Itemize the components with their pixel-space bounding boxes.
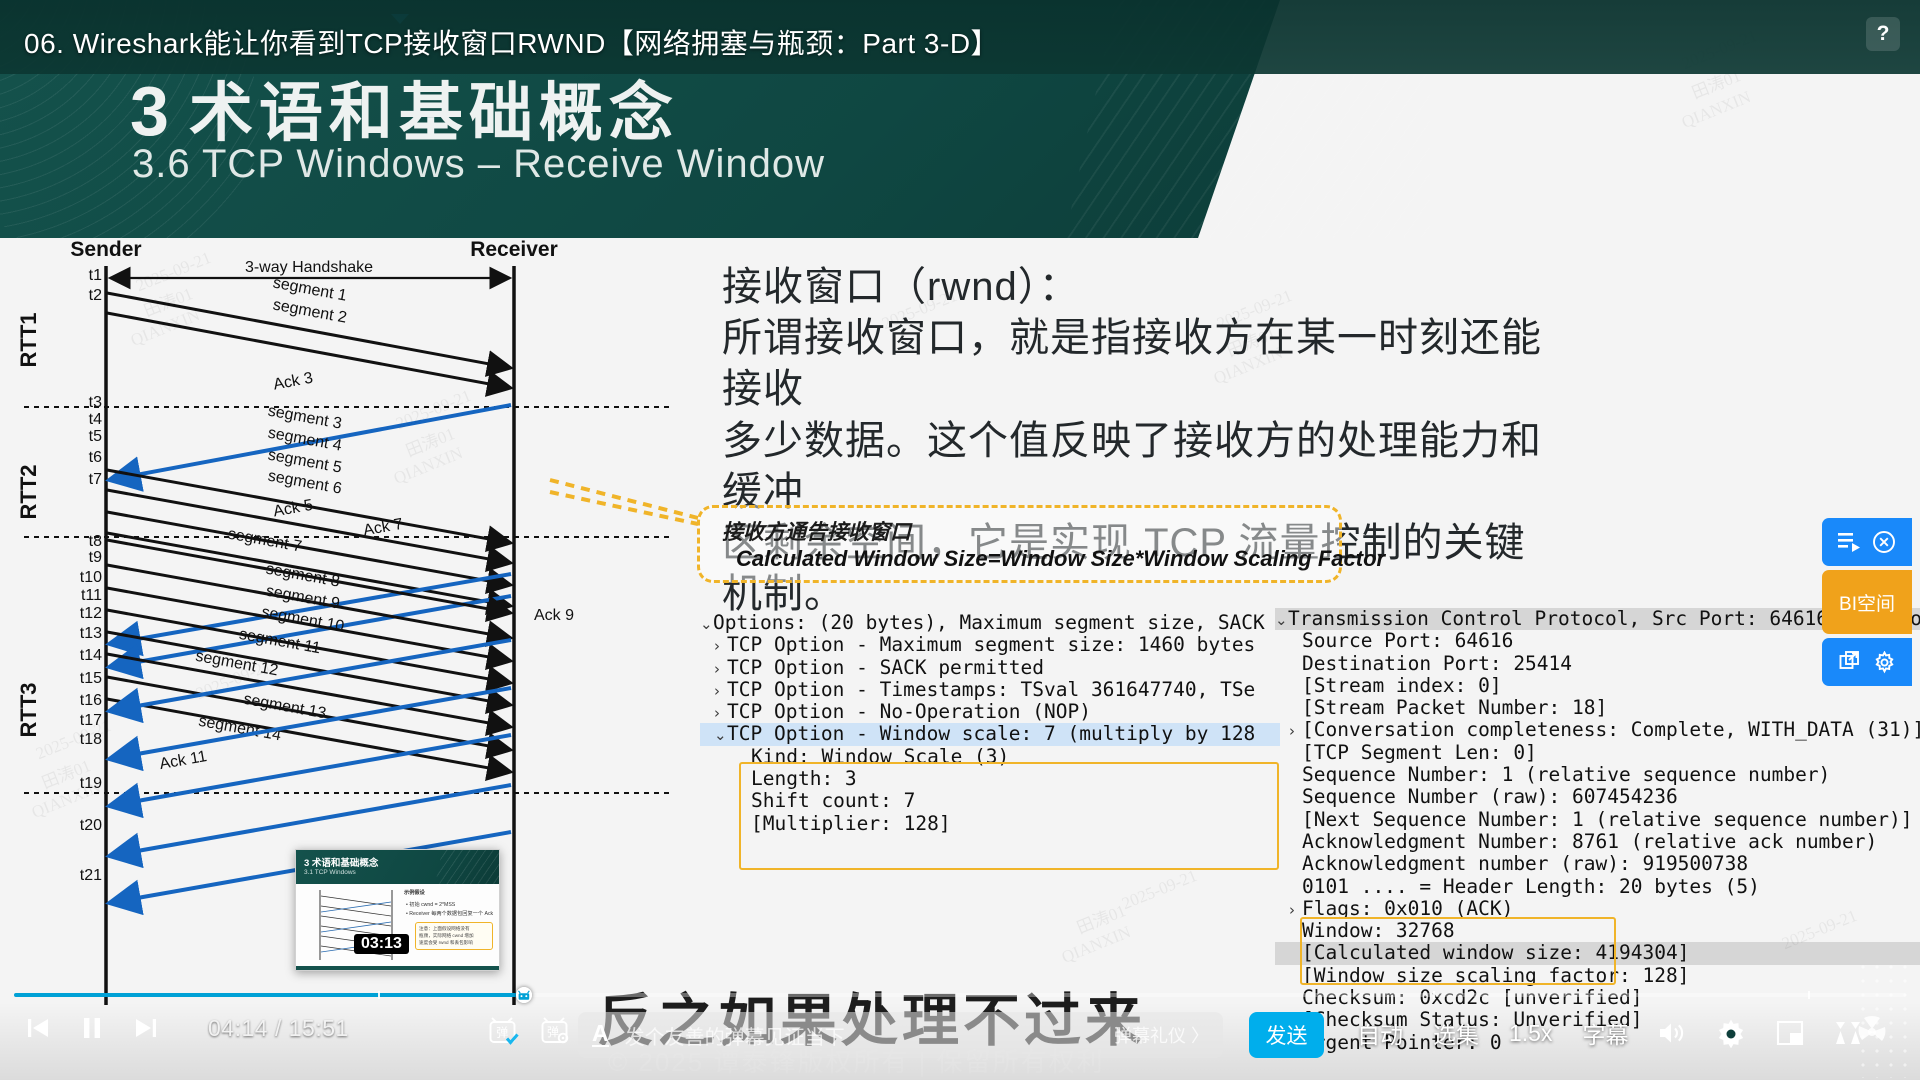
svg-text:t21: t21 [80,867,102,884]
tree-spacer: · [1289,654,1302,676]
ws-tcp-row[interactable]: ·Acknowledgment number (raw): 919500738 [1275,853,1920,875]
svg-text:t18: t18 [80,731,102,748]
ws-option-row[interactable]: ⌄TCP Option - Window scale: 7 (multiply … [700,723,1280,745]
ws-option-label: [Multiplier: 128] [751,812,951,835]
chevron-down-icon[interactable]: ⌄ [700,613,713,635]
tree-spacer: · [1289,810,1302,832]
callout-leader-line [548,478,718,528]
preview-chapter-title: 3 术语和基础概念 [304,855,378,869]
ws-option-row[interactable]: ›TCP Option - No-Operation (NOP) [700,701,1280,723]
danmaku-toggle-icon[interactable]: 弹 [487,1016,521,1048]
tree-spacer: · [1289,787,1302,809]
ws-tcp-label: [TCP Segment Len: 0] [1302,741,1537,764]
tree-spacer: · [1289,676,1302,698]
player-settings-button[interactable] [1716,1018,1746,1048]
svg-text:Ack 9: Ack 9 [534,607,574,624]
chevron-down-icon[interactable]: ⌄ [1275,609,1288,631]
video-title-bar: 06. Wireshark能让你看到TCP接收窗口RWND【网络拥塞与瓶颈：Pa… [0,0,1920,74]
tree-spacer: · [1289,698,1302,720]
ws-tcp-row[interactable]: ·[Calculated window size: 4194304] [1275,942,1920,964]
svg-text:Ack 11: Ack 11 [158,748,208,773]
watermark: 2025-09-21 [1119,866,1200,914]
time-separator: / [275,1015,282,1041]
pause-button[interactable] [78,1014,106,1042]
danmaku-placeholder: 发个友善的弹幕见证当下 [625,1021,845,1050]
send-danmaku-button[interactable]: 发送 [1249,1012,1324,1058]
ws-tcp-row[interactable]: ·[Next Sequence Number: 1 (relative sequ… [1275,809,1920,831]
ws-option-row[interactable]: ›TCP Option - Timestamps: TSval 36164774… [700,679,1280,701]
popout-icon[interactable] [1839,650,1863,674]
ws-tcp-label: [Next Sequence Number: 1 (relative seque… [1302,808,1912,831]
tree-spacer: · [738,814,751,836]
help-button[interactable]: ? [1866,17,1900,51]
chapter-number: 3 [130,72,175,150]
video-player-stage: 3术语和基础概念 3.6 TCP Windows – Receive Windo… [0,0,1920,1080]
tree-spacer: · [738,769,751,791]
tree-spacer: · [1289,743,1302,765]
total-time: 15:51 [289,1015,349,1041]
progress-played [14,993,524,997]
tree-spacer: · [1289,921,1302,943]
danmaku-controls: 弹 弹 [487,1016,573,1048]
font-style-icon[interactable]: A [592,1023,609,1048]
svg-text:t11: t11 [81,587,102,604]
ws-option-label: Length: 3 [751,767,857,790]
ws-tcp-row[interactable]: ·Window: 32768 [1275,920,1920,942]
playback-speed-button[interactable]: 1.5x [1509,1020,1552,1047]
svg-text:segment 12: segment 12 [194,648,279,680]
ws-option-label: TCP Option - Maximum segment size: 1460 … [727,633,1255,656]
ws-option-row[interactable]: ·[Multiplier: 128] [700,813,1280,835]
svg-text:t17: t17 [80,712,102,729]
popout-settings-button[interactable] [1822,638,1912,686]
ws-tcp-label: 0101 .... = Header Length: 20 bytes (5) [1302,875,1760,898]
ws-tcp-label: Destination Port: 25414 [1302,652,1572,675]
playlist-button[interactable] [1822,518,1912,566]
ws-tcp-label: Flags: 0x010 (ACK) [1302,897,1513,920]
danmaku-etiquette-link[interactable]: 弹幕礼仪 〉 [1114,1022,1209,1048]
ws-option-row[interactable]: ›TCP Option - SACK permitted [700,657,1280,679]
time-display: 04:14 / 15:51 [208,1015,349,1042]
preview-slide-body: 示例假设 • 初始 cwnd = 2*MSS • Receiver 每两个数据包… [296,884,499,971]
svg-text:t12: t12 [80,605,102,622]
ws-tcp-label: Sequence Number: 1 (relative sequence nu… [1302,763,1830,786]
tree-spacer: · [738,791,751,813]
svg-text:弹: 弹 [496,1026,508,1040]
svg-text:t14: t14 [80,647,102,664]
svg-text:t5: t5 [89,428,102,445]
ws-tcp-row[interactable]: ·[Window size scaling factor: 128] [1275,965,1920,987]
ws-tcp-row[interactable]: ·Sequence Number: 1 (relative sequence n… [1275,764,1920,786]
chapter-marker[interactable] [378,991,380,999]
subtitle-button[interactable]: 字幕 [1582,1016,1628,1050]
svg-text:t7: t7 [89,471,102,488]
tree-spacer: · [1289,765,1302,787]
tree-spacer: · [1289,877,1302,899]
svg-text:t3: t3 [89,394,102,411]
svg-text:t9: t9 [89,549,102,566]
ws-tcp-label: Acknowledgment number (raw): 919500738 [1302,852,1748,875]
svg-text:Ack 3: Ack 3 [272,370,315,394]
receive-window-callout: 接收方通告接收窗口 Calculated Window Size=Window … [697,505,1342,583]
svg-text:t4: t4 [89,411,102,428]
ws-tcp-label: Acknowledgment Number: 8761 (relative ac… [1302,830,1877,853]
svg-text:3-way Handshake: 3-way Handshake [245,259,373,276]
svg-text:t15: t15 [80,670,102,687]
ws-tcp-label: [Conversation completeness: Complete, WI… [1302,718,1920,741]
preview-note-line: 速度会受 rwnd 和丢包影响 [419,940,473,946]
ws-option-row[interactable]: ›TCP Option - Maximum segment size: 1460… [700,634,1280,656]
next-episode-button[interactable] [132,1014,160,1042]
svg-text:t10: t10 [80,569,102,586]
radiation-icon [1852,1012,1892,1057]
ws-tcp-row[interactable]: ·Sequence Number (raw): 607454236 [1275,786,1920,808]
video-title: 06. Wireshark能让你看到TCP接收窗口RWND【网络拥塞与瓶颈：Pa… [24,22,999,62]
ws-option-row[interactable]: ·Shift count: 7 [700,790,1280,812]
ws-tcp-row[interactable]: ·Acknowledgment Number: 8761 (relative a… [1275,831,1920,853]
svg-text:Sender: Sender [70,240,141,261]
danmaku-input-box[interactable]: A 发个友善的弹幕见证当下 弹幕礼仪 〉 [578,1012,1223,1058]
chevron-right-icon[interactable]: › [714,658,727,680]
chevron-right-icon[interactable]: › [1289,720,1302,742]
svg-text:t13: t13 [80,625,102,642]
chevron-right-icon[interactable]: › [714,635,727,657]
rwnd-line-2: 所谓接收窗口，就是指接收方在某一时刻还能接收 [722,313,1542,415]
progress-thumb[interactable] [516,987,532,1003]
callout-title: 接收方通告接收窗口 [722,516,911,546]
right-controls: 自动 选集 1.5x 字幕 [1357,1016,1862,1050]
ws-tcp-label: Sequence Number (raw): 607454236 [1302,785,1678,808]
ws-tcp-label: [Calculated window size: 4194304] [1302,941,1689,964]
playlist-icon [1838,532,1862,552]
chevron-down-icon[interactable]: ⌄ [714,724,727,746]
preview-timestamp: 03:13 [354,934,409,954]
ws-tcp-row[interactable]: ·[TCP Segment Len: 0] [1275,742,1920,764]
floating-side-buttons: BI空间 [1822,518,1920,690]
chevron-right-icon[interactable]: › [1289,899,1302,921]
ws-option-label: TCP Option - No-Operation (NOP) [727,700,1091,723]
tree-spacer: · [1289,854,1302,876]
preview-footer-bar [296,966,499,971]
rwnd-line-3: 多少数据。这个值反映了接收方的处理能力和缓冲 [722,416,1542,518]
svg-text:segment 13: segment 13 [242,691,327,723]
watermark: QIANXIN [1059,922,1134,968]
slide-canvas: 3术语和基础概念 3.6 TCP Windows – Receive Windo… [0,0,1920,1080]
svg-text:t16: t16 [80,692,102,709]
episode-list-button[interactable]: 选集 [1433,1016,1479,1050]
svg-text:t8: t8 [89,533,102,550]
ws-tcp-row[interactable]: ›[Conversation completeness: Complete, W… [1275,719,1920,741]
tree-spacer: · [1289,631,1302,653]
svg-text:RTT1: RTT1 [16,313,41,368]
preview-bullet: • Receiver 每两个数据包回复一个 Ack [406,910,493,917]
callout-formula: Calculated Window Size=Window Size*Windo… [736,546,1385,572]
auto-quality-button[interactable]: 自动 [1357,1016,1403,1050]
svg-text:弹: 弹 [547,1025,559,1039]
ws-tcp-row[interactable]: ·[Stream Packet Number: 18] [1275,697,1920,719]
svg-text:t6: t6 [89,449,102,466]
tree-spacer: · [1289,832,1302,854]
ws-option-label: Kind: Window Scale (3) [751,745,1009,768]
settings-icon[interactable] [1873,651,1896,674]
chevron-right-icon[interactable]: › [714,702,727,724]
ws-option-label: Shift count: 7 [751,789,915,812]
progress-bar[interactable] [0,988,1920,1002]
danmaku-settings-icon[interactable]: 弹 [539,1016,573,1048]
ws-tcp-row[interactable]: ›Flags: 0x010 (ACK) [1275,898,1920,920]
ws-tcp-row[interactable]: ·0101 .... = Header Length: 20 bytes (5) [1275,876,1920,898]
chevron-right-icon[interactable]: › [714,680,727,702]
svg-text:t19: t19 [80,775,102,792]
svg-text:segment 7: segment 7 [227,526,304,556]
chapter-marker[interactable] [1433,991,1435,999]
slide-chapter-heading: 3术语和基础概念 [130,62,679,154]
seek-preview-thumbnail: 3 术语和基础概念 3.1 TCP Windows 示例假设 • 初始 cwnd… [295,849,500,971]
tree-spacer: · [738,747,751,769]
svg-text:Ack 7: Ack 7 [362,516,404,540]
svg-text:t1: t1 [89,267,102,284]
bi-space-label: BI空间 [1839,589,1895,616]
svg-text:t20: t20 [80,817,102,834]
playback-controls: 04:14 / 15:51 [24,1014,349,1042]
volume-button[interactable] [1658,1020,1686,1046]
svg-text:Receiver: Receiver [470,240,558,261]
slide-section-title: 3.6 TCP Windows – Receive Window [132,142,825,187]
ws-tcp-label: [Stream index: 0] [1302,674,1502,697]
current-time: 04:14 [208,1015,268,1041]
ws-tcp-label: [Window size scaling factor: 128] [1302,964,1689,987]
watermark: QIANXIN [1679,87,1754,133]
ws-option-label: Options: (20 bytes), Maximum segment siz… [713,611,1265,634]
tree-spacer: · [1289,966,1302,988]
ws-option-row[interactable]: ·Kind: Window Scale (3) [700,746,1280,768]
wireshark-options-tree[interactable]: ⌄Options: (20 bytes), Maximum segment si… [700,612,1280,835]
svg-text:RTT3: RTT3 [16,683,41,738]
preview-bullet: • 初始 cwnd = 2*MSS [406,901,455,908]
rwnd-line-1: 接收窗口（rwnd）： [722,262,1542,313]
preview-slide-header: 3 术语和基础概念 3.1 TCP Windows [296,850,499,884]
preview-note-line: 注意：上面假设网络没有 [419,926,470,932]
previous-episode-button[interactable] [24,1014,52,1042]
preview-note-line: 瓶颈，实际网络 cwnd 增加 [419,933,474,939]
ws-tcp-label: Source Port: 64616 [1302,629,1513,652]
tree-spacer: · [1289,943,1302,965]
preview-section-title: 3.1 TCP Windows [304,869,356,876]
ws-option-label: TCP Option - SACK permitted [727,656,1044,679]
svg-text:t2: t2 [89,287,102,304]
ws-option-label: TCP Option - Timestamps: TSval 361647740… [727,678,1255,701]
close-icon[interactable] [1872,530,1896,554]
svg-text:RTT2: RTT2 [16,465,41,520]
preview-bullet-heading: 示例假设 [404,889,425,896]
ws-option-label: TCP Option - Window scale: 7 (multiply b… [727,722,1255,745]
preview-note-box: 注意：上面假设网络没有 瓶颈，实际网络 cwnd 增加 速度会受 rwnd 和丢… [415,922,493,950]
ws-tcp-label: [Stream Packet Number: 18] [1302,696,1607,719]
watermark: 田涛01 [1072,896,1129,938]
chapter-title: 术语和基础概念 [189,77,679,149]
picture-in-picture-button[interactable] [1776,1020,1804,1046]
chapter-marker[interactable] [1808,991,1810,999]
ws-option-row[interactable]: ·Length: 3 [700,768,1280,790]
bi-space-button[interactable]: BI空间 [1822,570,1912,634]
ws-option-row[interactable]: ⌄Options: (20 bytes), Maximum segment si… [700,612,1280,634]
ws-tcp-label: Window: 32768 [1302,919,1455,942]
